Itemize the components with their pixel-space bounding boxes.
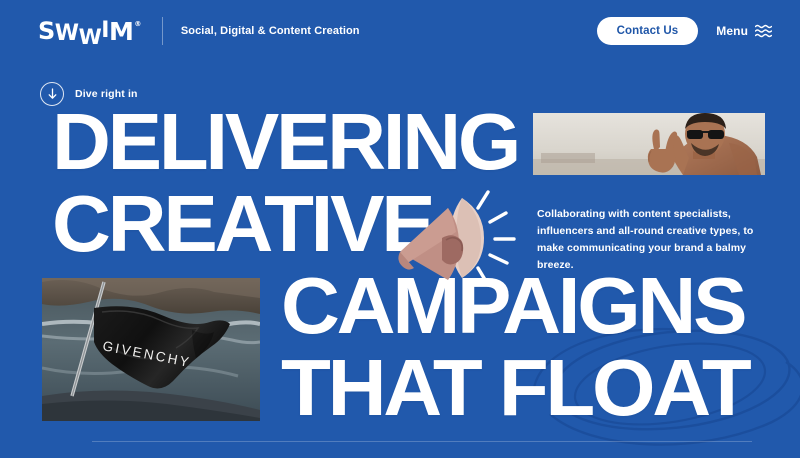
headline-line-2: CREATIVE — [52, 190, 432, 259]
header-divider — [162, 17, 163, 45]
swwim-logo[interactable]: S W W I M ® — [38, 19, 148, 44]
menu-toggle-label: Menu — [716, 24, 748, 38]
wave-lines-icon — [755, 24, 772, 38]
menu-toggle-button[interactable]: Menu — [714, 20, 774, 42]
arrow-down-circle-icon — [40, 82, 64, 106]
spiral-scribble-decoration — [520, 318, 800, 458]
header-nav: Contact Us Menu — [597, 17, 774, 45]
headline-line-3: CAMPAIGNS — [281, 272, 744, 341]
hero-body-copy: Collaborating with content specialists, … — [537, 206, 765, 274]
headline-line-4: THAT FLOAT — [281, 354, 748, 423]
dive-right-in-label: Dive right in — [75, 88, 138, 100]
photo-givenchy-flag: GIVENCHY — [42, 278, 260, 421]
logo-letter-i: I — [101, 20, 109, 42]
site-header: S W W I M ® Social, Digital & Content Cr… — [0, 0, 800, 62]
logo-letter-w2: W — [79, 27, 102, 48]
bottom-divider — [92, 441, 752, 442]
registered-mark-icon: ® — [134, 21, 141, 28]
hero-page: S W W I M ® Social, Digital & Content Cr… — [0, 0, 800, 458]
photo-man-peace-sign — [533, 113, 765, 175]
brand-block: S W W I M ® Social, Digital & Content Cr… — [38, 17, 360, 45]
headline-line-1: DELIVERING — [52, 108, 518, 177]
logo-letter-m: M — [109, 19, 133, 44]
logo-letter-s: S — [38, 19, 55, 43]
dive-right-in-button[interactable]: Dive right in — [40, 82, 138, 106]
megaphone-illustration — [392, 186, 522, 294]
logo-letter-w1: W — [55, 23, 79, 45]
site-tagline: Social, Digital & Content Creation — [181, 25, 360, 37]
contact-us-button[interactable]: Contact Us — [597, 17, 699, 45]
